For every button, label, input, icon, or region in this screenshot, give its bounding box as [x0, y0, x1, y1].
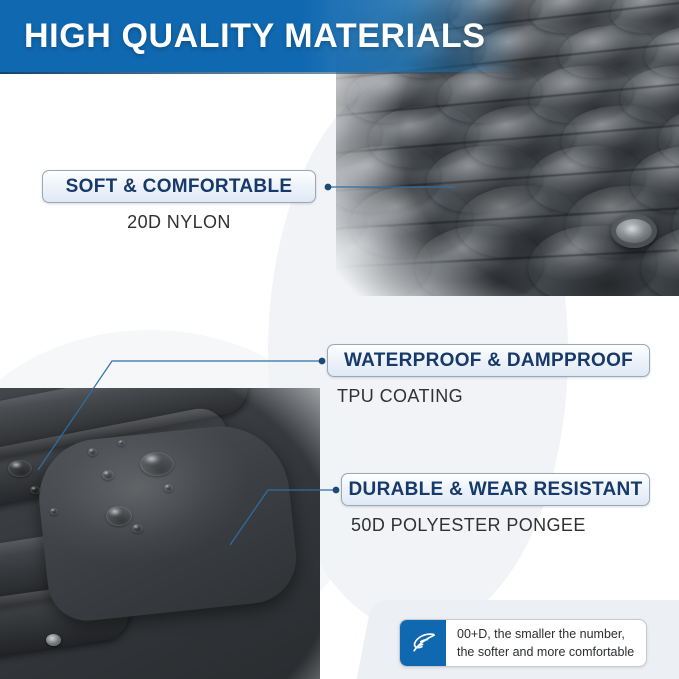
callout-durable-wear-resistant[interactable]: DURABLE & WEAR RESISTANT 50D POLYESTER P… — [341, 473, 650, 536]
callout-soft-comfortable[interactable]: SOFT & COMFORTABLE 20D NYLON — [42, 170, 316, 233]
callout-label-waterproof-dampproof[interactable]: WATERPROOF & DAMPPROOF — [327, 344, 650, 377]
callout-sub-soft-comfortable: 20D NYLON — [42, 212, 316, 233]
header-banner-underline — [0, 72, 520, 74]
page-title: HIGH QUALITY MATERIALS — [24, 17, 486, 56]
callout-label-soft-comfortable[interactable]: SOFT & COMFORTABLE — [42, 170, 316, 203]
mattress-front-face — [33, 419, 300, 624]
footer-note-line-2: the softer and more comfortable — [457, 643, 634, 661]
product-photo-dark-mattress — [0, 388, 320, 679]
grommet-icon — [46, 634, 61, 646]
callout-label-durable-wear-resistant[interactable]: DURABLE & WEAR RESISTANT — [341, 473, 650, 506]
air-valve-icon — [611, 214, 657, 248]
infographic-canvas: HIGH QUALITY MATERIALS SOFT & COMFORTABL… — [0, 0, 679, 679]
footer-note: 00+D, the smaller the number, the softer… — [399, 619, 647, 667]
callout-waterproof-dampproof[interactable]: WATERPROOF & DAMPPROOF TPU COATING — [327, 344, 650, 407]
feather-icon-glyph — [408, 630, 438, 656]
callout-sub-durable-wear-resistant: 50D POLYESTER PONGEE — [351, 515, 650, 536]
footer-note-text: 00+D, the smaller the number, the softer… — [446, 620, 646, 666]
feather-icon — [400, 620, 446, 666]
footer-note-line-1: 00+D, the smaller the number, — [457, 625, 634, 643]
callout-sub-waterproof-dampproof: TPU COATING — [337, 386, 650, 407]
